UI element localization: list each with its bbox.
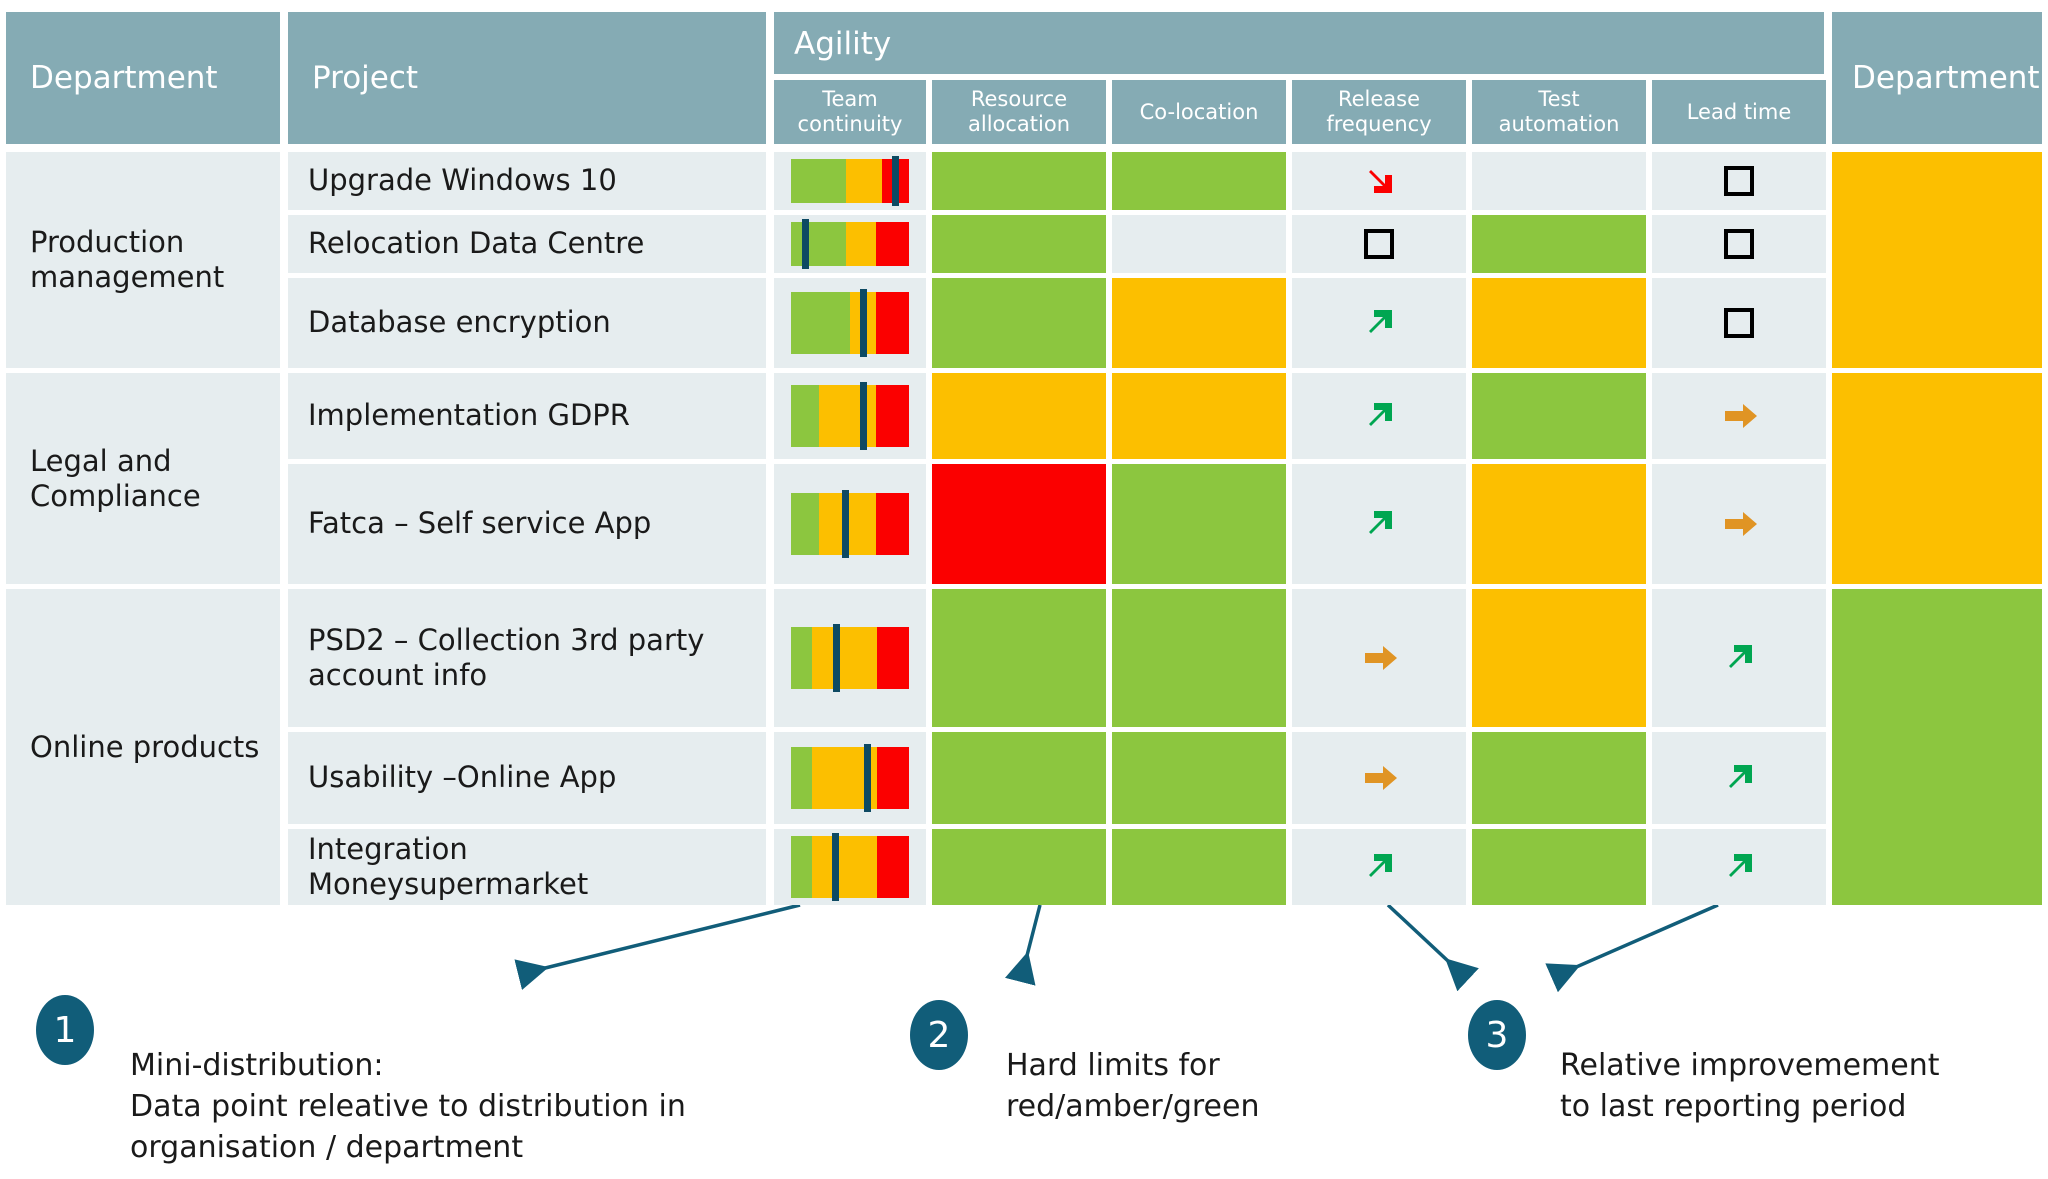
minibar-segment-green xyxy=(791,836,812,898)
minibar-marker xyxy=(802,219,809,269)
minibar-segment-red xyxy=(876,292,909,354)
lead-time-cell[interactable] xyxy=(1652,152,1826,210)
header-subcolumn: Testautomation xyxy=(1472,80,1646,144)
team-continuity-minibar-cell[interactable] xyxy=(774,373,926,459)
legend-badge-1: 1 xyxy=(36,995,94,1065)
minibar-segment-red xyxy=(876,385,909,447)
minibar-segment-green xyxy=(791,627,812,689)
department-cell-label: Production management xyxy=(30,225,224,295)
header-agility-group: Agility xyxy=(774,12,1824,74)
minibar-segment-green xyxy=(791,222,846,266)
project-cell-label: Upgrade Windows 10 xyxy=(308,163,617,198)
co-location-cell[interactable] xyxy=(1112,732,1286,824)
header-subcolumn-line: Test xyxy=(1476,87,1642,112)
resource-allocation-cell[interactable] xyxy=(932,278,1106,368)
header-subcolumn-line: automation xyxy=(1476,112,1642,137)
arrow-up-green-icon xyxy=(1357,845,1401,889)
arrow-up-green-icon xyxy=(1357,394,1401,438)
project-cell[interactable]: Relocation Data Centre xyxy=(288,215,766,273)
legend-badge-3: 3 xyxy=(1468,1000,1526,1070)
header-subcolumn: Releasefrequency xyxy=(1292,80,1466,144)
minibar-segment-red xyxy=(877,836,909,898)
arrow-down-red-icon xyxy=(1357,159,1401,203)
co-location-cell[interactable] xyxy=(1112,464,1286,584)
arrow-right-amber-icon xyxy=(1357,636,1401,680)
department-status-cell[interactable] xyxy=(1832,152,2042,368)
team-continuity-minibar xyxy=(791,836,909,898)
lead-time-cell[interactable] xyxy=(1652,829,1826,905)
team-continuity-minibar xyxy=(791,222,909,266)
header-subcolumn: Co-location xyxy=(1112,80,1286,144)
empty-square-icon xyxy=(1724,308,1754,338)
lead-time-cell[interactable] xyxy=(1652,373,1826,459)
arrow-up-green-icon xyxy=(1357,301,1401,345)
department-cell[interactable]: Legal and Compliance xyxy=(6,373,280,584)
resource-allocation-cell[interactable] xyxy=(932,215,1106,273)
header-subcolumn-line: Resource xyxy=(936,87,1102,112)
minibar-segment-green xyxy=(791,747,812,809)
project-cell[interactable]: PSD2 – Collection 3rd party account info xyxy=(288,589,766,727)
release-frequency-cell[interactable] xyxy=(1292,152,1466,210)
minibar-segment-green xyxy=(791,385,819,447)
project-cell-label: Integration Moneysupermarket xyxy=(308,832,588,903)
co-location-cell[interactable] xyxy=(1112,152,1286,210)
empty-square-icon xyxy=(1724,229,1754,259)
release-frequency-cell[interactable] xyxy=(1292,464,1466,584)
test-automation-cell[interactable] xyxy=(1472,589,1646,727)
resource-allocation-cell[interactable] xyxy=(932,829,1106,905)
team-continuity-minibar xyxy=(791,493,909,555)
co-location-cell[interactable] xyxy=(1112,373,1286,459)
release-frequency-cell[interactable] xyxy=(1292,373,1466,459)
release-frequency-cell[interactable] xyxy=(1292,732,1466,824)
header-department-left: Department xyxy=(6,12,280,144)
project-cell-label: Implementation GDPR xyxy=(308,398,630,433)
team-continuity-minibar xyxy=(791,159,909,203)
header-subcolumn-line: continuity xyxy=(778,112,922,137)
team-continuity-minibar-cell[interactable] xyxy=(774,464,926,584)
header-subcolumn: Teamcontinuity xyxy=(774,80,926,144)
header-agility-label: Agility xyxy=(794,26,891,62)
co-location-cell[interactable] xyxy=(1112,215,1286,273)
minibar-segment-amber xyxy=(812,836,877,898)
header-subcolumn: Lead time xyxy=(1652,80,1826,144)
test-automation-cell[interactable] xyxy=(1472,464,1646,584)
test-automation-cell[interactable] xyxy=(1472,152,1646,210)
team-continuity-minibar-cell[interactable] xyxy=(774,215,926,273)
team-continuity-minibar xyxy=(791,385,909,447)
minibar-segment-amber xyxy=(819,385,876,447)
co-location-cell[interactable] xyxy=(1112,829,1286,905)
project-cell[interactable]: Integration Moneysupermarket xyxy=(288,829,766,905)
arrow-right-amber-icon xyxy=(1717,394,1761,438)
team-continuity-minibar xyxy=(791,747,909,809)
minibar-segment-red xyxy=(876,493,909,555)
project-cell[interactable]: Usability –Online App xyxy=(288,732,766,824)
minibar-segment-red xyxy=(877,627,909,689)
arrow-up-green-icon xyxy=(1717,636,1761,680)
release-frequency-cell[interactable] xyxy=(1292,829,1466,905)
minibar-segment-green xyxy=(791,159,846,203)
project-cell[interactable]: Implementation GDPR xyxy=(288,373,766,459)
project-cell[interactable]: Upgrade Windows 10 xyxy=(288,152,766,210)
minibar-segment-amber xyxy=(846,159,881,203)
empty-square-icon xyxy=(1364,229,1394,259)
minibar-marker xyxy=(833,624,840,692)
lead-time-cell[interactable] xyxy=(1652,589,1826,727)
test-automation-cell[interactable] xyxy=(1472,373,1646,459)
legend-badge-2-number: 2 xyxy=(928,1015,951,1056)
minibar-marker xyxy=(842,490,849,558)
co-location-cell[interactable] xyxy=(1112,589,1286,727)
project-cell-label: PSD2 – Collection 3rd party account info xyxy=(308,623,704,694)
minibar-segment-red xyxy=(877,747,909,809)
header-subcolumn: Resourceallocation xyxy=(932,80,1106,144)
project-cell-label: Relocation Data Centre xyxy=(308,226,644,261)
header-department-left-label: Department xyxy=(30,60,218,96)
department-cell[interactable]: Production management xyxy=(6,152,280,368)
department-status-cell[interactable] xyxy=(1832,373,2042,584)
project-cell-label: Fatca – Self service App xyxy=(308,506,651,541)
test-automation-cell[interactable] xyxy=(1472,215,1646,273)
minibar-marker xyxy=(860,289,867,357)
arrow-up-green-icon xyxy=(1717,845,1761,889)
header-project: Project xyxy=(288,12,766,144)
header-subcolumn-line: Co-location xyxy=(1116,100,1282,125)
header-project-label: Project xyxy=(312,60,418,96)
resource-allocation-cell[interactable] xyxy=(932,464,1106,584)
lead-time-cell[interactable] xyxy=(1652,278,1826,368)
minibar-marker xyxy=(864,744,871,812)
minibar-segment-amber xyxy=(846,222,876,266)
header-subcolumn-line: Lead time xyxy=(1656,100,1822,125)
header-subcolumn-line: Release xyxy=(1296,87,1462,112)
test-automation-cell[interactable] xyxy=(1472,829,1646,905)
department-cell-label: Legal and Compliance xyxy=(30,444,201,514)
header-subcolumn-line: frequency xyxy=(1296,112,1462,137)
header-department-right-label: Department xyxy=(1852,60,2040,96)
lead-time-cell[interactable] xyxy=(1652,464,1826,584)
header-department-right: Department xyxy=(1832,12,2042,144)
project-cell-label: Database encryption xyxy=(308,305,611,340)
resource-allocation-cell[interactable] xyxy=(932,152,1106,210)
team-continuity-minibar-cell[interactable] xyxy=(774,589,926,727)
legend-badge-2: 2 xyxy=(910,1000,968,1070)
arrow-right-amber-icon xyxy=(1357,756,1401,800)
test-automation-cell[interactable] xyxy=(1472,278,1646,368)
empty-square-icon xyxy=(1724,166,1754,196)
team-continuity-minibar-cell[interactable] xyxy=(774,829,926,905)
legend-badge-1-number: 1 xyxy=(54,1010,77,1051)
team-continuity-minibar-cell[interactable] xyxy=(774,278,926,368)
minibar-marker xyxy=(892,156,899,206)
resource-allocation-cell[interactable] xyxy=(932,373,1106,459)
project-cell[interactable]: Fatca – Self service App xyxy=(288,464,766,584)
test-automation-cell[interactable] xyxy=(1472,732,1646,824)
release-frequency-cell[interactable] xyxy=(1292,215,1466,273)
minibar-marker xyxy=(832,833,839,901)
department-cell[interactable]: Online products xyxy=(6,589,280,905)
legend-note-2: Hard limits for red/amber/green xyxy=(1006,1046,1426,1128)
lead-time-cell[interactable] xyxy=(1652,215,1826,273)
department-status-cell[interactable] xyxy=(1832,589,2042,905)
department-cell-label: Online products xyxy=(30,730,259,765)
lead-time-cell[interactable] xyxy=(1652,732,1826,824)
project-cell-label: Usability –Online App xyxy=(308,760,616,795)
resource-allocation-cell[interactable] xyxy=(932,732,1106,824)
minibar-segment-red xyxy=(876,222,909,266)
resource-allocation-cell[interactable] xyxy=(932,589,1106,727)
header-subcolumn-line: allocation xyxy=(936,112,1102,137)
header-subcolumn-line: Team xyxy=(778,87,922,112)
project-cell[interactable]: Database encryption xyxy=(288,278,766,368)
arrow-right-amber-icon xyxy=(1717,502,1761,546)
minibar-segment-amber xyxy=(812,627,877,689)
team-continuity-minibar xyxy=(791,292,909,354)
arrow-up-green-icon xyxy=(1357,502,1401,546)
team-continuity-minibar-cell[interactable] xyxy=(774,732,926,824)
team-continuity-minibar xyxy=(791,627,909,689)
team-continuity-minibar-cell[interactable] xyxy=(774,152,926,210)
arrow-up-green-icon xyxy=(1717,756,1761,800)
minibar-segment-green xyxy=(791,493,819,555)
release-frequency-cell[interactable] xyxy=(1292,589,1466,727)
legend-note-1: Mini-distribution: Data point releative … xyxy=(130,1046,830,1168)
co-location-cell[interactable] xyxy=(1112,278,1286,368)
minibar-marker xyxy=(860,382,867,450)
legend-note-3: Relative improvemement to last reporting… xyxy=(1560,1046,2048,1128)
legend-badge-3-number: 3 xyxy=(1486,1015,1509,1056)
release-frequency-cell[interactable] xyxy=(1292,278,1466,368)
minibar-segment-green xyxy=(791,292,850,354)
